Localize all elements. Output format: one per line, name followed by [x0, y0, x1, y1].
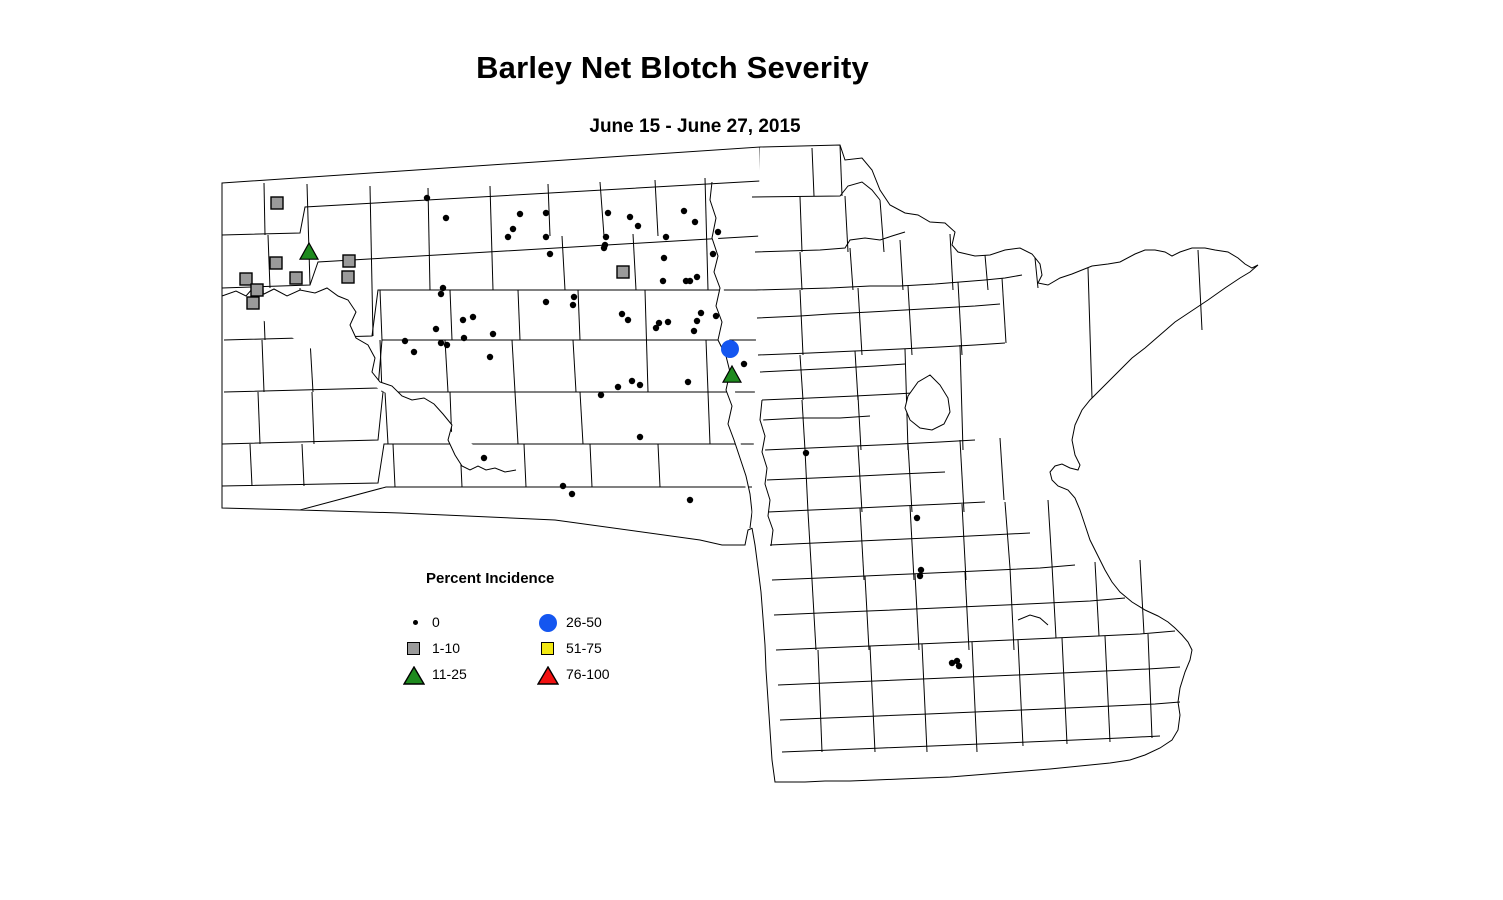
map-marker-0	[444, 342, 450, 348]
map-marker-0	[625, 317, 631, 323]
map-marker-0	[803, 450, 809, 456]
map-marker-0	[605, 210, 611, 216]
map-marker-0	[505, 234, 511, 240]
map-marker-0	[470, 314, 476, 320]
square-glyph	[541, 642, 554, 655]
map-marker-0	[598, 392, 604, 398]
map-marker-1-10	[271, 197, 283, 209]
map-marker-0	[681, 208, 687, 214]
map-marker-0	[660, 278, 666, 284]
dot-icon	[402, 610, 432, 636]
map-marker-0	[460, 317, 466, 323]
map-marker-0	[517, 211, 523, 217]
triangle-icon	[536, 662, 566, 688]
map-marker-0	[713, 313, 719, 319]
square-icon	[402, 636, 432, 662]
map-marker-0	[438, 291, 444, 297]
map-marker-1-10	[617, 266, 629, 278]
map-marker-0	[601, 245, 607, 251]
map-marker-0	[424, 195, 430, 201]
dot-glyph	[413, 620, 418, 625]
map-marker-0	[656, 320, 662, 326]
legend-item-label: 51-75	[566, 640, 602, 656]
map-marker-1-10	[240, 273, 252, 285]
map-marker-26-50	[721, 340, 739, 358]
legend-item-label: 26-50	[566, 614, 602, 630]
map-marker-1-10	[343, 255, 355, 267]
map-marker-0	[481, 455, 487, 461]
map-marker-0	[490, 331, 496, 337]
map-marker-0	[571, 294, 577, 300]
map-marker-0	[663, 234, 669, 240]
map-marker-0	[694, 274, 700, 280]
map-marker-0	[698, 310, 704, 316]
map-marker-0	[687, 497, 693, 503]
map-marker-0	[741, 361, 747, 367]
map-marker-0	[438, 340, 444, 346]
square-icon	[536, 636, 566, 662]
map-marker-0	[635, 223, 641, 229]
legend: Percent Incidence 01-1011-25 26-5051-757…	[402, 570, 672, 705]
triangle-glyph	[403, 666, 425, 685]
map-marker-0	[710, 251, 716, 257]
map-marker-0	[570, 302, 576, 308]
map-marker-0	[661, 255, 667, 261]
map-marker-1-10	[270, 257, 282, 269]
map-marker-1-10	[247, 297, 259, 309]
map-marker-0	[918, 567, 924, 573]
map-marker-0	[683, 278, 689, 284]
map-marker-0	[547, 251, 553, 257]
circle-icon	[536, 610, 566, 636]
map-marker-0	[543, 234, 549, 240]
map-marker-0	[411, 349, 417, 355]
map-marker-0	[637, 382, 643, 388]
map-marker-0	[691, 328, 697, 334]
map-marker-0	[692, 219, 698, 225]
map-marker-0	[402, 338, 408, 344]
county-boundaries	[222, 145, 1258, 782]
map-marker-0	[461, 335, 467, 341]
legend-item-label: 76-100	[566, 666, 610, 682]
map-marker-0	[619, 311, 625, 317]
circle-glyph	[539, 614, 557, 632]
map-marker-0	[917, 573, 923, 579]
map-marker-0	[914, 515, 920, 521]
map-marker-0	[637, 434, 643, 440]
map-marker-0	[569, 491, 575, 497]
triangle-glyph	[537, 666, 559, 685]
map-marker-0	[627, 214, 633, 220]
map-marker-0	[694, 318, 700, 324]
legend-item-label: 11-25	[432, 666, 467, 682]
map-marker-0	[560, 483, 566, 489]
state-county-map	[0, 0, 1503, 900]
map-marker-0	[510, 226, 516, 232]
legend-item-label: 1-10	[432, 640, 460, 656]
map-marker-1-10	[290, 272, 302, 284]
map-marker-0	[543, 210, 549, 216]
map-marker-0	[629, 378, 635, 384]
map-marker-0	[615, 384, 621, 390]
map-marker-0	[487, 354, 493, 360]
map-marker-0	[954, 658, 960, 664]
map-marker-0	[685, 379, 691, 385]
map-marker-1-10	[251, 284, 263, 296]
map-marker-1-10	[342, 271, 354, 283]
legend-item-label: 0	[432, 614, 440, 630]
map-figure: Barley Net Blotch Severity June 15 - Jun…	[0, 0, 1503, 900]
map-marker-0	[440, 285, 446, 291]
map-marker-0	[443, 215, 449, 221]
map-marker-0	[715, 229, 721, 235]
triangle-icon	[402, 662, 432, 688]
map-marker-0	[543, 299, 549, 305]
map-marker-0	[665, 319, 671, 325]
legend-title: Percent Incidence	[426, 570, 554, 587]
map-marker-0	[603, 234, 609, 240]
square-glyph	[407, 642, 420, 655]
map-marker-0	[433, 326, 439, 332]
